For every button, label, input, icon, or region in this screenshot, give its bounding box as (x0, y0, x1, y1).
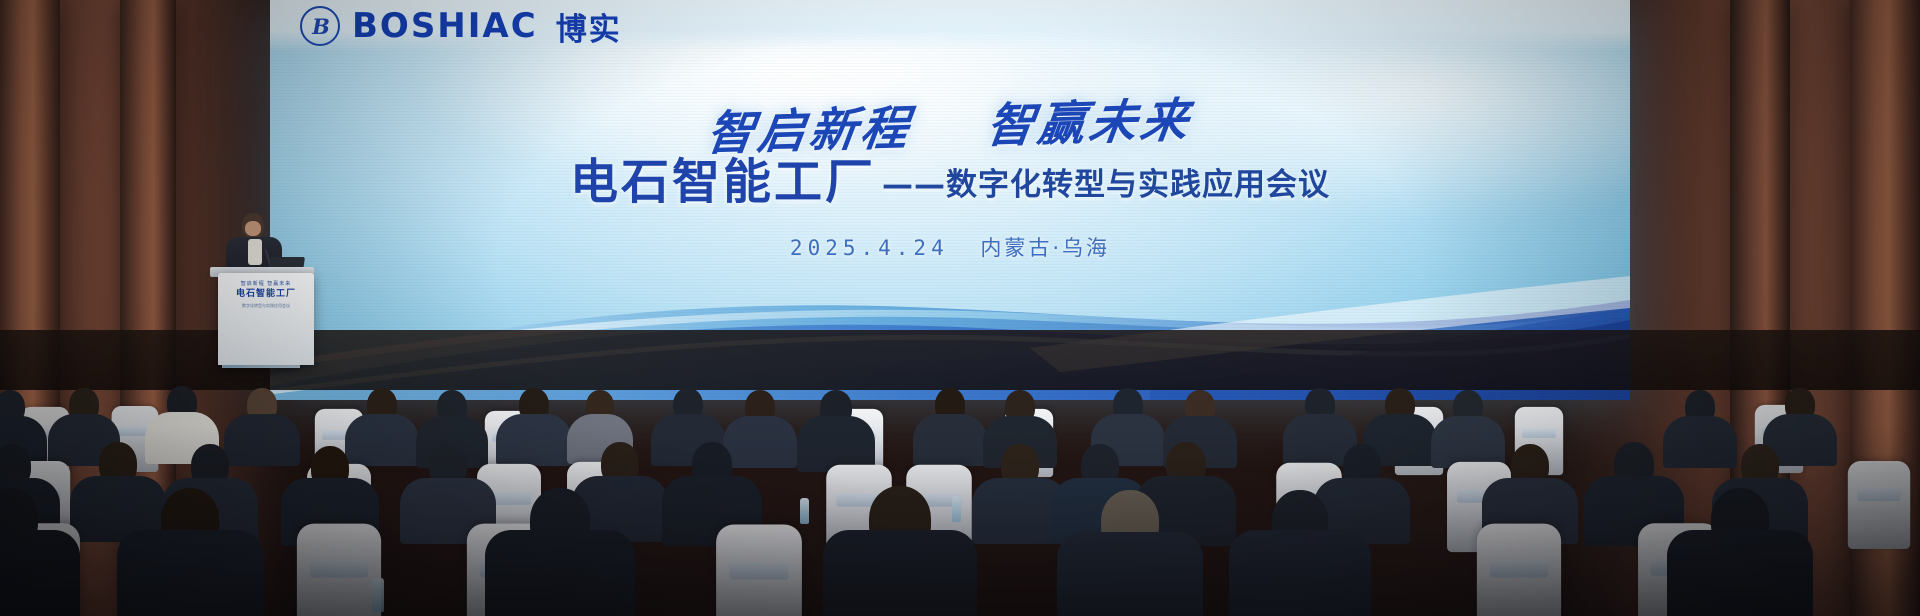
conference-photo-scene: 智启新程 智赢未来 电石智能工厂 ——数字化转型与实践应用会议 2025.4.2… (0, 0, 1920, 616)
chair (716, 525, 802, 616)
brand-bar: B BOSHIAC 博实 (270, 0, 1630, 52)
water-bottle (372, 578, 384, 612)
event-date: 2025.4.24 (790, 236, 949, 260)
boshiac-circle-logo-icon: B (300, 6, 340, 46)
podium-sign-main: 电石智能工厂 (228, 289, 304, 300)
chair (1477, 524, 1561, 616)
headline-main-title: 电石智能工厂 (570, 158, 876, 206)
water-bottle (952, 496, 961, 522)
speaker-shirt (248, 239, 262, 265)
calligraphy-left: 智启新程 (703, 101, 915, 162)
podium-sign-top: 智启新程 智赢未来 (228, 281, 304, 287)
water-bottle (800, 498, 809, 524)
podium-sign-sub: 数字化转型与实践应用会议 (228, 303, 304, 308)
event-place: 内蒙古·乌海 (980, 236, 1110, 260)
chair (297, 524, 381, 616)
calligraphy-right: 智赢未来 (983, 93, 1195, 154)
screen-dateline: 2025.4.24 内蒙古·乌海 (270, 232, 1630, 262)
brand-name-en: BOSHIAC (352, 6, 538, 46)
screen-headline: 电石智能工厂 ——数字化转型与实践应用会议 (270, 158, 1630, 206)
podium-sign: 智启新程 智赢未来 电石智能工厂 数字化转型与实践应用会议 (228, 281, 304, 308)
logo-letter: B (312, 14, 328, 39)
headline-subtitle: ——数字化转型与实践应用会议 (882, 170, 1330, 206)
audience-area (0, 316, 1920, 616)
chair (1848, 461, 1910, 549)
speaker-face (245, 221, 261, 236)
brand-name-cn: 博实 (556, 4, 622, 49)
